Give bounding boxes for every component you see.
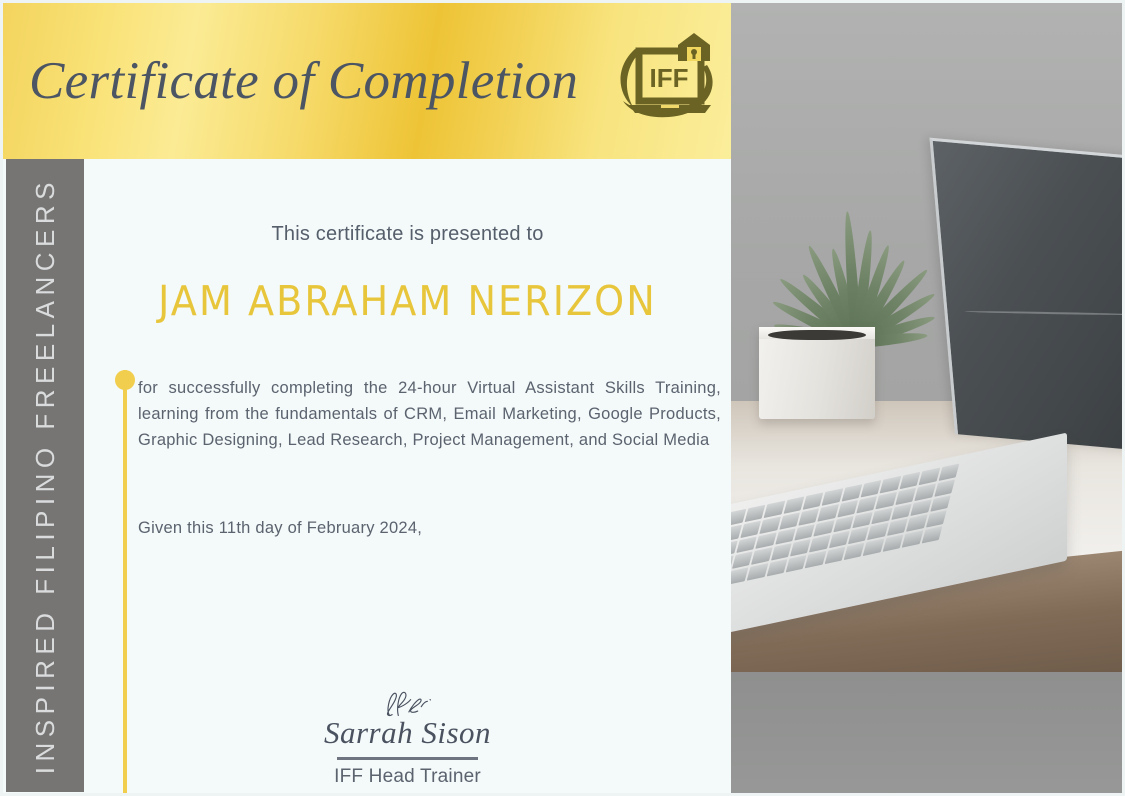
- page-title: Certificate of Completion: [29, 55, 578, 108]
- plant-pot: [759, 327, 875, 419]
- presented-to-label: This certificate is presented to: [84, 223, 731, 246]
- decorative-photo-desk-with-plant-and-laptop: [731, 3, 1125, 796]
- signature-block: Sarrah Sison IFF Head Trainer: [84, 687, 731, 788]
- iff-logo: IFF: [611, 31, 723, 131]
- achievement-text: for successfully completing the 24-hour …: [138, 375, 721, 453]
- recipient-name: JAM ABRAHAM NERIZON: [107, 277, 709, 325]
- photo-floor: [731, 672, 1125, 796]
- laptop-screen: [929, 138, 1125, 453]
- signer-name: Sarrah Sison: [84, 717, 731, 750]
- date-line: Given this 11th day of February 2024,: [138, 519, 422, 538]
- certificate-document: Certificate of Completion IFF INSPIRED F…: [0, 0, 1125, 796]
- certificate-body: This certificate is presented to JAM ABR…: [84, 159, 731, 796]
- logo-text: IFF: [650, 63, 689, 93]
- sidebar-brand-text: INSPIRED FILIPINO FREELANCERS: [30, 177, 61, 774]
- accent-dot: [115, 370, 135, 390]
- signer-role: IFF Head Trainer: [84, 766, 731, 788]
- signature-rule: [337, 757, 478, 760]
- sidebar-brand-strip: INSPIRED FILIPINO FREELANCERS: [6, 159, 84, 792]
